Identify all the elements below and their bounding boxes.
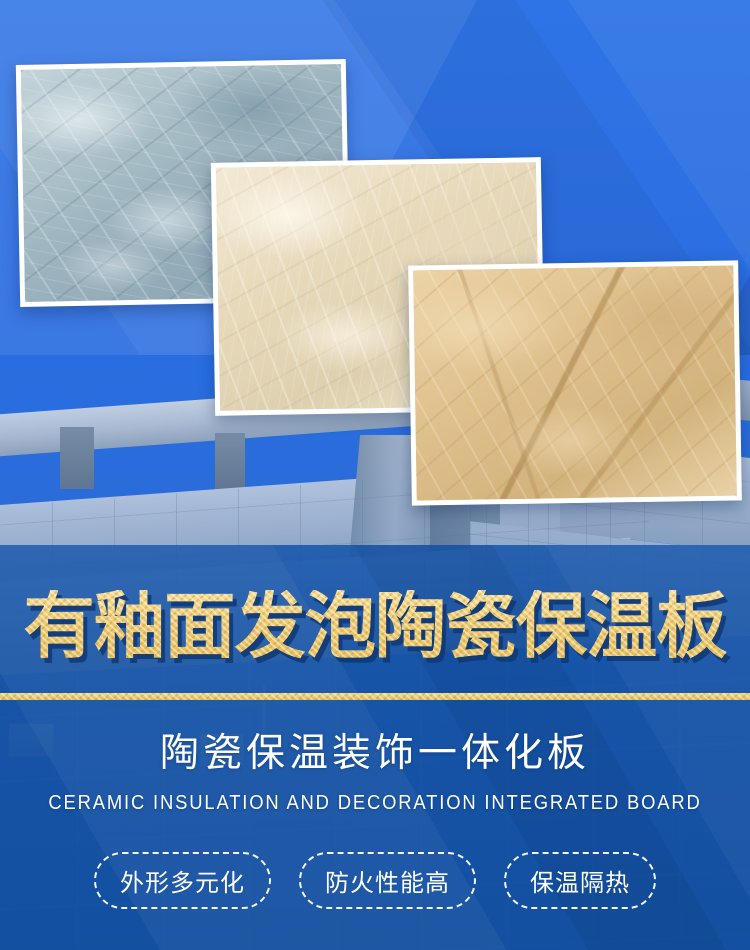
gold-divider	[0, 693, 750, 700]
feature-pill-1[interactable]: 外形多元化	[94, 852, 271, 909]
tile-sample-3	[408, 260, 742, 505]
feature-pill-group: 外形多元化 防火性能高 保温隔热	[0, 852, 750, 909]
subtitle-english: CERAMIC INSULATION AND DECORATION INTEGR…	[30, 792, 720, 815]
tan-sand-marble-texture	[413, 266, 737, 501]
main-title: 有釉面发泡陶瓷保温板	[24, 590, 727, 662]
subtitle-chinese: 陶瓷保温装饰一体化板	[0, 730, 750, 779]
feature-pill-2[interactable]: 防火性能高	[299, 852, 476, 909]
title-area: 有釉面发泡陶瓷保温板	[0, 578, 750, 674]
subtitle-area: 陶瓷保温装饰一体化板 CERAMIC INSULATION AND DECORA…	[0, 730, 750, 815]
product-banner: 有釉面发泡陶瓷保温板 陶瓷保温装饰一体化板 CERAMIC INSULATION…	[0, 0, 750, 950]
feature-pill-3[interactable]: 保温隔热	[504, 852, 656, 909]
